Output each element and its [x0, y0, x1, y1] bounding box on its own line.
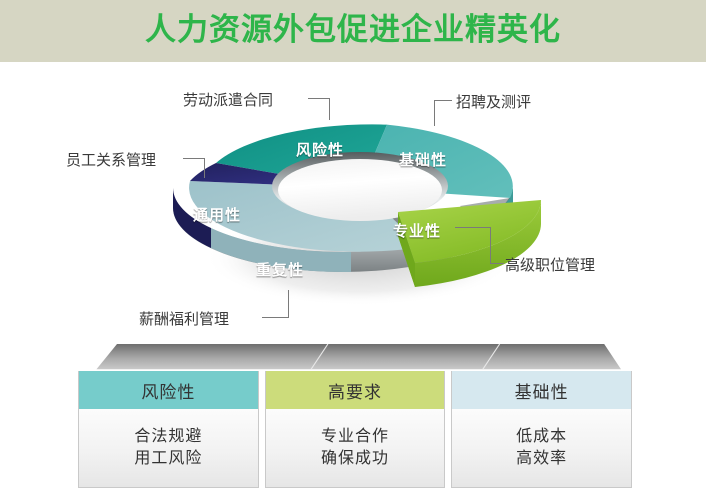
segment-label-specialized: 专业性	[393, 220, 441, 241]
table-column-high-requirement: 高要求 专业合作 确保成功	[265, 371, 446, 488]
callout-leader-compensation-h	[262, 317, 288, 318]
segment-label-repetitive: 重复性	[256, 259, 304, 280]
callout-leader-labor-dispatch-v	[329, 98, 330, 120]
callout-leader-recruitment-h	[434, 100, 452, 101]
summary-table: 风险性 合法规避 用工风险 高要求 专业合作 确保成功 基础性 低成本 高效率	[70, 344, 640, 494]
table-header-risk: 风险性	[79, 371, 258, 409]
donut-diagram: 风险性 基础性 专业性 重复性 通用性 劳动派遣合同 招聘及测评 员工关系管理 …	[0, 62, 706, 334]
segment-label-basic: 基础性	[399, 149, 447, 170]
callout-leader-compensation-v	[288, 290, 289, 318]
segment-label-general: 通用性	[193, 204, 241, 225]
table-cell-line: 用工风险	[134, 448, 202, 470]
callout-leader-employee-relations-v	[204, 158, 205, 178]
table-header-high-requirement: 高要求	[266, 371, 445, 409]
table-cell-line: 低成本	[516, 426, 567, 448]
table-body-risk: 合法规避 用工风险	[79, 409, 258, 487]
table-body-high-requirement: 专业合作 确保成功	[266, 409, 445, 487]
table-columns: 风险性 合法规避 用工风险 高要求 专业合作 确保成功 基础性 低成本 高效率	[78, 371, 632, 488]
callout-leader-labor-dispatch-h	[308, 98, 330, 99]
callout-leader-recruitment-v	[434, 100, 435, 126]
donut-chart-graphic	[155, 80, 550, 320]
callout-label-senior-position-mgmt: 高级职位管理	[505, 257, 595, 275]
table-header-basic: 基础性	[452, 371, 631, 409]
page-title: 人力资源外包促进企业精英化	[0, 8, 706, 52]
callout-leader-senior-h1	[455, 227, 491, 228]
table-cell-line: 合法规避	[134, 426, 202, 448]
callout-leader-senior-h2	[490, 263, 504, 264]
table-cell-line: 专业合作	[321, 426, 389, 448]
table-3d-top-face	[70, 344, 640, 372]
callout-leader-employee-relations-h	[183, 158, 205, 159]
table-body-basic: 低成本 高效率	[452, 409, 631, 487]
callout-label-labor-dispatch-contract: 劳动派遣合同	[183, 92, 273, 110]
callout-leader-senior-v	[490, 227, 491, 263]
callout-label-employee-relations: 员工关系管理	[66, 152, 156, 170]
table-column-risk: 风险性 合法规避 用工风险	[78, 371, 259, 488]
table-cell-line: 高效率	[516, 448, 567, 470]
callout-label-compensation-benefits: 薪酬福利管理	[139, 311, 229, 329]
table-cell-line: 确保成功	[321, 448, 389, 470]
segment-label-risk: 风险性	[296, 139, 344, 160]
header-band: 人力资源外包促进企业精英化	[0, 0, 706, 62]
callout-label-recruitment-assessment: 招聘及测评	[456, 94, 531, 112]
table-column-basic: 基础性 低成本 高效率	[451, 371, 632, 488]
